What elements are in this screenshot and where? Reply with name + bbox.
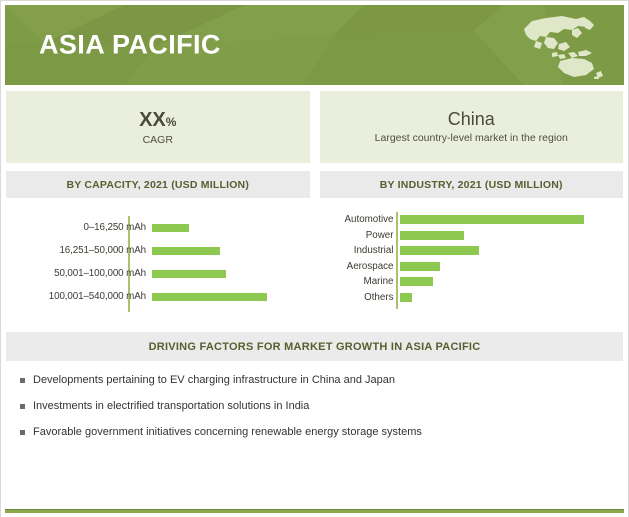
bar-row: 0–16,250 mAh xyxy=(36,216,310,239)
bullet-icon xyxy=(20,378,25,383)
bar-track xyxy=(152,293,310,301)
bar-chart-capacity: 0–16,250 mAh16,251–50,000 mAh50,001–100,… xyxy=(6,198,310,324)
capacity-header-column: BY CAPACITY, 2021 (USD MILLION) xyxy=(6,171,310,198)
chart-industry-rows: AutomotivePowerIndustrialAerospaceMarine… xyxy=(320,212,624,305)
bar-row: Automotive xyxy=(324,212,624,228)
drivers-list: Developments pertaining to EV charging i… xyxy=(6,361,623,460)
bar-track xyxy=(152,224,310,232)
drivers-section: DRIVING FACTORS FOR MARKET GROWTH IN ASI… xyxy=(6,332,623,460)
stat-card-country: China Largest country-level market in th… xyxy=(320,91,624,163)
bar-label: 50,001–100,000 mAh xyxy=(36,268,152,279)
bar-track xyxy=(400,215,624,224)
bar-label: Industrial xyxy=(324,245,400,256)
charts-row: 0–16,250 mAh16,251–50,000 mAh50,001–100,… xyxy=(6,198,623,324)
bar-track xyxy=(152,247,310,255)
bar xyxy=(400,293,413,302)
asia-pacific-map-icon xyxy=(506,11,610,79)
page-title: ASIA PACIFIC xyxy=(39,30,221,61)
bar-label: 100,001–540,000 mAh xyxy=(36,291,152,302)
chart-capacity-rows: 0–16,250 mAh16,251–50,000 mAh50,001–100,… xyxy=(36,216,310,308)
bar xyxy=(152,293,267,301)
bar-track xyxy=(400,262,624,271)
cagr-number: XX xyxy=(139,109,166,131)
chart-capacity-box: 0–16,250 mAh16,251–50,000 mAh50,001–100,… xyxy=(6,198,310,324)
chart-industry-box: AutomotivePowerIndustrialAerospaceMarine… xyxy=(320,198,624,324)
stat-card-cagr-column: XX% CAGR xyxy=(6,91,310,163)
bottom-accent-rule xyxy=(5,509,624,513)
bar-row: Industrial xyxy=(324,243,624,259)
chart-capacity-column: 0–16,250 mAh16,251–50,000 mAh50,001–100,… xyxy=(6,198,310,324)
bullet-icon xyxy=(20,430,25,435)
section-header-industry: BY INDUSTRY, 2021 (USD MILLION) xyxy=(320,171,624,198)
bar-row: 16,251–50,000 mAh xyxy=(36,239,310,262)
driver-item: Investments in electrified transportatio… xyxy=(20,400,623,412)
bar-row: Aerospace xyxy=(324,259,624,275)
header-banner: ASIA PACIFIC xyxy=(5,5,624,85)
bar-row: 50,001–100,000 mAh xyxy=(36,262,310,285)
bar-label: 0–16,250 mAh xyxy=(36,222,152,233)
bar xyxy=(152,270,226,278)
driver-text: Favorable government initiatives concern… xyxy=(33,426,422,438)
cagr-label: CAGR xyxy=(143,134,173,146)
bar-track xyxy=(400,293,624,302)
driver-text: Developments pertaining to EV charging i… xyxy=(33,374,395,386)
bar-row: 100,001–540,000 mAh xyxy=(36,285,310,308)
bar xyxy=(152,247,220,255)
stat-cards-row: XX% CAGR China Largest country-level mar… xyxy=(6,91,623,163)
bar-track xyxy=(400,246,624,255)
main-panel: XX% CAGR China Largest country-level mar… xyxy=(6,91,623,460)
bar xyxy=(400,246,479,255)
stat-card-cagr: XX% CAGR xyxy=(6,91,310,163)
country-name: China xyxy=(448,110,495,130)
asia-pacific-infographic: ASIA PACIFIC xyxy=(0,0,629,517)
bar-label: Power xyxy=(324,230,400,241)
bar-label: Marine xyxy=(324,276,400,287)
chart-industry-column: AutomotivePowerIndustrialAerospaceMarine… xyxy=(320,198,624,324)
bar-label: 16,251–50,000 mAh xyxy=(36,245,152,256)
bar xyxy=(400,262,440,271)
cagr-value: XX% xyxy=(139,109,176,131)
driver-item: Developments pertaining to EV charging i… xyxy=(20,374,623,386)
bar-chart-industry: AutomotivePowerIndustrialAerospaceMarine… xyxy=(320,198,624,324)
bar-track xyxy=(152,270,310,278)
bar xyxy=(400,277,433,286)
country-description: Largest country-level market in the regi… xyxy=(375,132,568,144)
bar xyxy=(400,215,584,224)
bar-track xyxy=(400,231,624,240)
bar xyxy=(152,224,189,232)
cagr-percent-sign: % xyxy=(166,115,177,129)
bar xyxy=(400,231,464,240)
bullet-icon xyxy=(20,404,25,409)
bar-label: Aerospace xyxy=(324,261,400,272)
bar-label: Automotive xyxy=(324,214,400,225)
driver-item: Favorable government initiatives concern… xyxy=(20,426,623,438)
section-header-capacity: BY CAPACITY, 2021 (USD MILLION) xyxy=(6,171,310,198)
industry-header-column: BY INDUSTRY, 2021 (USD MILLION) xyxy=(320,171,624,198)
bar-row: Marine xyxy=(324,274,624,290)
section-header-drivers: DRIVING FACTORS FOR MARKET GROWTH IN ASI… xyxy=(6,332,623,361)
bar-track xyxy=(400,277,624,286)
bar-row: Power xyxy=(324,228,624,244)
bar-row: Others xyxy=(324,290,624,306)
driver-text: Investments in electrified transportatio… xyxy=(33,400,309,412)
bar-label: Others xyxy=(324,292,400,303)
stat-card-country-column: China Largest country-level market in th… xyxy=(320,91,624,163)
chart-headers-row: BY CAPACITY, 2021 (USD MILLION) BY INDUS… xyxy=(6,171,623,198)
